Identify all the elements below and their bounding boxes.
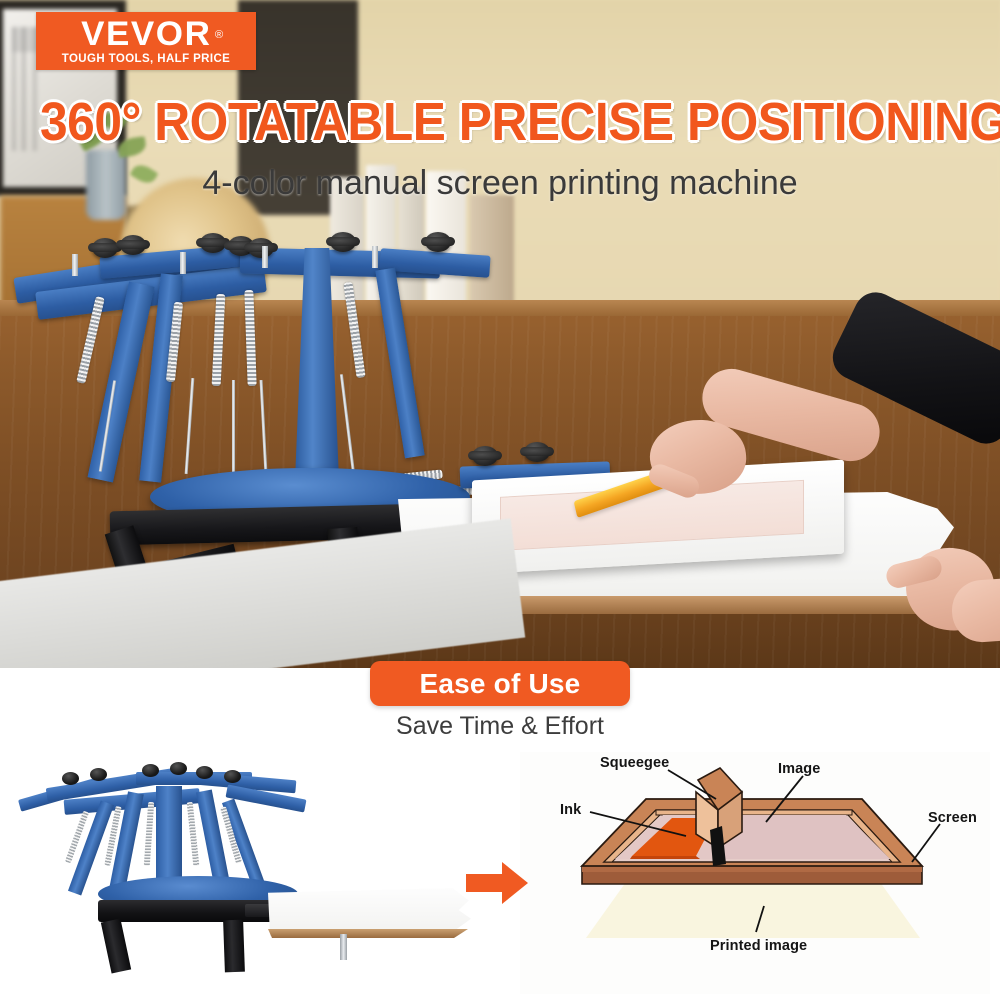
clamp-knob	[170, 762, 187, 775]
tension-spring	[244, 290, 256, 386]
diagram-label-printed-image: Printed image	[710, 938, 807, 954]
feature-subtitle: Save Time & Effort	[0, 712, 1000, 741]
printing-platen	[268, 888, 473, 936]
press-bolt	[372, 246, 378, 268]
screen-printing-diagram: Squeegee Image Ink Screen Printed image	[520, 752, 990, 994]
press-bolt	[180, 252, 186, 274]
logo-tagline: TOUGH TOOLS, HALF PRICE	[62, 53, 231, 65]
diagram-label-image: Image	[778, 761, 820, 777]
clamp-knob	[330, 232, 356, 252]
press-center-column	[295, 248, 339, 480]
diagram-label-squeegee: Squeegee	[600, 755, 669, 771]
diagram-label-screen: Screen	[928, 810, 977, 826]
diagram-label-ink: Ink	[560, 802, 581, 818]
vevor-logo: VEVOR ® TOUGH TOOLS, HALF PRICE	[36, 12, 256, 70]
turnbuckle-rod	[232, 380, 235, 474]
diagram-illustration	[520, 752, 990, 994]
press-bolt	[262, 246, 268, 268]
clamp-knob	[62, 772, 79, 785]
press-bolt	[72, 254, 78, 276]
logo-wordmark: VEVOR ®	[81, 17, 211, 51]
turnbuckle-rod	[185, 378, 195, 474]
logo-brand-text: VEVOR	[81, 15, 211, 53]
feature-badge: Ease of Use	[370, 661, 630, 706]
arrow-right-icon	[466, 862, 528, 904]
product-photo-secondary	[10, 748, 480, 998]
tension-spring	[187, 802, 200, 866]
clamp-knob	[472, 446, 498, 466]
turnbuckle-rod	[340, 374, 355, 474]
press-base-leg	[223, 920, 245, 973]
press-base-leg	[101, 918, 131, 973]
page-title: 360° ROTATABLE PRECISE POSITIONING	[40, 94, 960, 150]
tension-spring	[144, 802, 154, 866]
clamp-knob	[196, 766, 213, 779]
feature-badge-label: Ease of Use	[420, 668, 581, 700]
clamp-knob	[248, 238, 274, 258]
clamp-knob	[200, 233, 226, 253]
clamp-knob	[524, 442, 550, 462]
platen-adjust-screw	[340, 934, 347, 960]
registered-trademark-icon: ®	[215, 18, 225, 52]
clamp-knob	[92, 238, 118, 258]
clamp-knob	[120, 235, 146, 255]
tension-spring	[212, 294, 226, 386]
clamp-knob	[142, 764, 159, 777]
platen-edge	[268, 929, 468, 938]
turnbuckle-rod	[260, 380, 268, 474]
clamp-knob	[90, 768, 107, 781]
product-marketing-page: VEVOR ® TOUGH TOOLS, HALF PRICE 360° ROT…	[0, 0, 1000, 1000]
tension-spring	[343, 282, 365, 378]
page-subtitle: 4-color manual screen printing machine	[0, 162, 1000, 204]
clamp-knob	[224, 770, 241, 783]
press-arm-leg	[375, 268, 424, 459]
clamp-knob	[425, 232, 451, 252]
process-arrow	[466, 862, 528, 904]
